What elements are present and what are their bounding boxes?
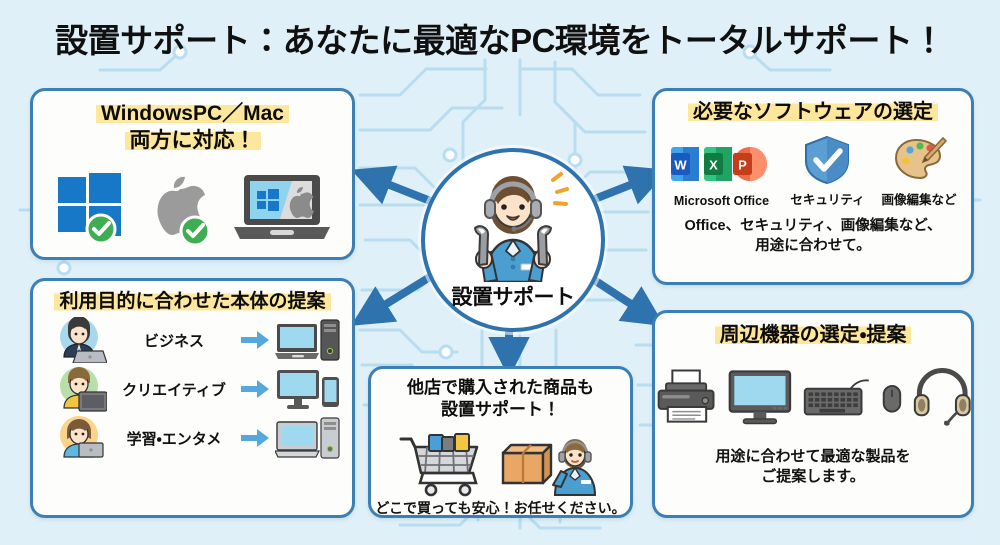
- card-windows-mac-heading-line2: 両方に対応！: [125, 129, 261, 152]
- os-logo-row: [33, 167, 352, 245]
- card-peripherals-heading: 周辺機器の選定・提案: [655, 323, 971, 349]
- card-other-store-heading-line2: 設置サポート！: [441, 400, 560, 419]
- software-item-office: W X P: [669, 139, 773, 208]
- software-icon-row: W X P: [655, 134, 971, 208]
- peripherals-icon-row: [655, 365, 971, 429]
- usage-row-creative: クリエイティブ: [33, 366, 352, 412]
- apple-logo-icon: [144, 167, 216, 245]
- security-shield-icon: [801, 134, 853, 186]
- card-peripherals-subtext-line2: ご提案します。: [761, 468, 865, 485]
- powerpoint-icon: P: [733, 147, 767, 181]
- creative-woman-avatar-icon: [55, 366, 107, 412]
- card-peripherals-subtext-line1: 用途に合わせて最適な製品を: [715, 448, 910, 465]
- card-other-store-support: 他店で購入された商品も 設置サポート！: [368, 366, 633, 518]
- printer-icon: [655, 366, 717, 428]
- card-software-subtext: Office、セキュリティ、画像編集など、 用途に合わせて。: [655, 216, 971, 256]
- software-caption-security: セキュリティ: [790, 189, 864, 208]
- usage-row-business: ビジネス: [33, 317, 352, 363]
- excel-icon: X: [704, 147, 732, 181]
- staff-with-package-icon: [497, 425, 605, 497]
- other-store-icon-row: [371, 425, 630, 497]
- student-avatar-icon: [55, 415, 107, 461]
- paint-palette-icon: [891, 134, 947, 186]
- infographic-canvas: 設置サポート：あなたに最適なPC環境をトータルサポート！ WindowsPC／M…: [0, 0, 1000, 545]
- page-title: 設置サポート：あなたに最適なPC環境をトータルサポート！: [0, 14, 1000, 62]
- card-software-selection: 必要なソフトウェアの選定 W X: [652, 88, 974, 285]
- usage-row-study: 学習・エンタメ: [33, 415, 352, 461]
- usage-arrow-icon: [241, 378, 269, 400]
- card-other-store-heading-line1: 他店で購入された商品も: [407, 378, 594, 397]
- usage-arrow-icon: [241, 427, 269, 449]
- card-peripherals-subtext: 用途に合わせて最適な製品を ご提案します。: [655, 447, 971, 488]
- software-caption-office: Microsoft Office: [674, 194, 769, 208]
- usage-label-creative: クリエイティブ: [113, 379, 235, 400]
- shopping-cart-icon: [397, 431, 489, 497]
- card-software-subtext-line2: 用途に合わせて。: [755, 238, 871, 254]
- monitor-tablet-icon: [275, 367, 341, 411]
- spark-icon: [553, 174, 567, 204]
- keyboard-icon: [803, 374, 871, 420]
- usage-arrow-icon: [241, 329, 269, 351]
- laptop-dual-os-icon: [230, 171, 334, 245]
- word-icon: W: [671, 147, 699, 181]
- card-usage-proposal: 利用目的に合わせた本体の提案 ビジネス: [30, 278, 355, 518]
- card-software-heading: 必要なソフトウェアの選定: [655, 100, 971, 126]
- card-peripherals: 周辺機器の選定・提案: [652, 310, 974, 518]
- support-staff-with-wrenches-icon: [447, 166, 579, 282]
- center-hub-setup-support: 設置サポート: [421, 148, 605, 332]
- center-hub-label: 設置サポート: [425, 281, 601, 311]
- card-windows-mac: WindowsPC／Mac 両方に対応！: [30, 88, 355, 260]
- usage-label-study: 学習・エンタメ: [113, 428, 235, 449]
- usage-label-business: ビジネス: [113, 330, 235, 351]
- card-windows-mac-heading-line1: WindowsPC／Mac: [96, 102, 289, 125]
- card-other-store-heading: 他店で購入された商品も 設置サポート！: [371, 377, 630, 421]
- laptop-tower-icon: [275, 416, 341, 460]
- svg-text:X: X: [710, 157, 719, 172]
- card-other-store-subtext: どこで買っても安心！お任せください。: [371, 499, 630, 518]
- check-badge-icon: [181, 217, 209, 245]
- svg-text:P: P: [739, 157, 748, 172]
- card-windows-mac-heading: WindowsPC／Mac 両方に対応！: [33, 101, 352, 155]
- laptop-desktop-tower-icon: [275, 318, 341, 362]
- businessman-avatar-icon: [55, 317, 107, 363]
- card-usage-heading: 利用目的に合わせた本体の提案: [33, 290, 352, 314]
- software-item-security: セキュリティ: [790, 134, 864, 208]
- monitor-icon: [727, 366, 793, 428]
- software-caption-image-edit: 画像編集など: [882, 189, 957, 208]
- svg-text:W: W: [675, 157, 688, 172]
- software-item-image-edit: 画像編集など: [882, 134, 957, 208]
- headset-icon: [913, 365, 971, 429]
- card-software-subtext-line1: Office、セキュリティ、画像編集など、: [685, 218, 942, 234]
- check-badge-icon: [87, 215, 115, 243]
- mouse-icon: [881, 377, 903, 417]
- arrow-to-windows-mac: [372, 178, 438, 204]
- microsoft-office-icon: W X P: [669, 139, 773, 191]
- windows-logo-icon: [52, 167, 130, 245]
